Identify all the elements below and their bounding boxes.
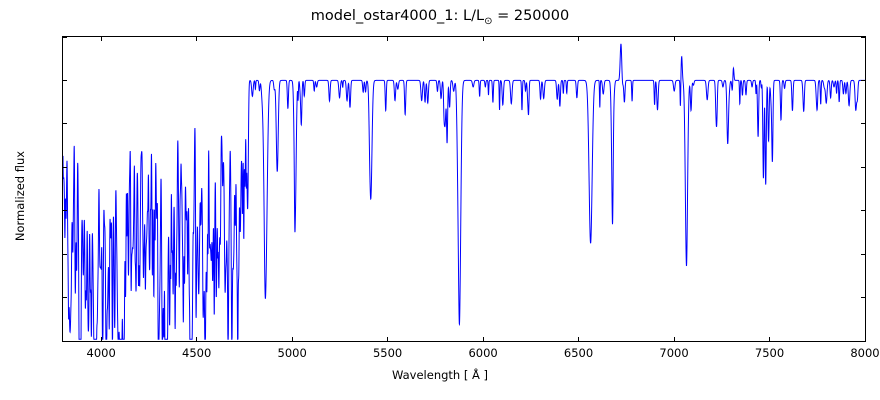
x-axis-tick-mark [769,37,770,41]
title-value: 250000 [514,8,569,24]
x-axis-tick-label: 7000 [659,346,688,360]
x-axis-tick-mark [578,37,579,41]
x-axis-tick-label: 7500 [755,346,784,360]
x-axis-tick-mark [101,37,102,41]
title-separator: : [454,8,464,24]
plot-axes [62,36,866,342]
x-axis-tick-mark [578,337,579,341]
x-axis-tick-mark [387,37,388,41]
x-axis-tick-mark [674,37,675,41]
y-axis-tick-mark [63,341,67,342]
y-axis-tick-mark [63,297,67,298]
y-axis-tick-mark [861,123,865,124]
x-axis-tick-label: 4000 [87,346,116,360]
y-axis-tick-mark [63,123,67,124]
y-axis-tick-mark [861,80,865,81]
x-axis-tick-label: 5500 [373,346,402,360]
y-axis-tick-mark [63,254,67,255]
y-axis-tick-mark [63,167,67,168]
y-axis-tick-mark [63,210,67,211]
x-axis-tick-mark [769,337,770,341]
y-axis-tick-mark [63,37,67,38]
x-axis-tick-mark [483,37,484,41]
spectrum-plot-line [63,37,865,341]
x-axis-tick-mark [101,337,102,341]
y-axis-tick-mark [63,80,67,81]
y-axis-tick-mark [861,37,865,38]
y-axis-tick-mark [861,297,865,298]
x-axis-tick-label: 8000 [850,346,879,360]
x-axis-tick-mark [674,337,675,341]
x-axis-tick-mark [196,37,197,41]
title-quantity: L/L [463,8,484,24]
title-model-name: model_ostar4000_1 [311,8,454,24]
page-title: model_ostar4000_1: L/L⊙ = 250000 [0,8,880,27]
x-axis-tick-label: 4500 [182,346,211,360]
x-axis-tick-label: 5000 [278,346,307,360]
spectrum-figure: model_ostar4000_1: L/L⊙ = 250000 Normali… [0,0,880,400]
y-axis-tick-mark [861,341,865,342]
x-axis-tick-mark [387,337,388,341]
y-axis-label: Normalized flux [13,86,27,306]
x-axis-tick-mark [196,337,197,341]
x-axis-tick-label: 6000 [468,346,497,360]
x-axis-tick-mark [483,337,484,341]
x-axis-tick-mark [292,337,293,341]
y-axis-tick-mark [861,167,865,168]
y-axis-tick-mark [861,254,865,255]
x-axis-label: Wavelength [ Å ] [0,368,880,382]
title-equals: = [492,8,513,24]
x-axis-tick-label: 6500 [564,346,593,360]
x-axis-tick-mark [865,37,866,41]
y-axis-tick-mark [861,210,865,211]
x-axis-tick-mark [292,37,293,41]
